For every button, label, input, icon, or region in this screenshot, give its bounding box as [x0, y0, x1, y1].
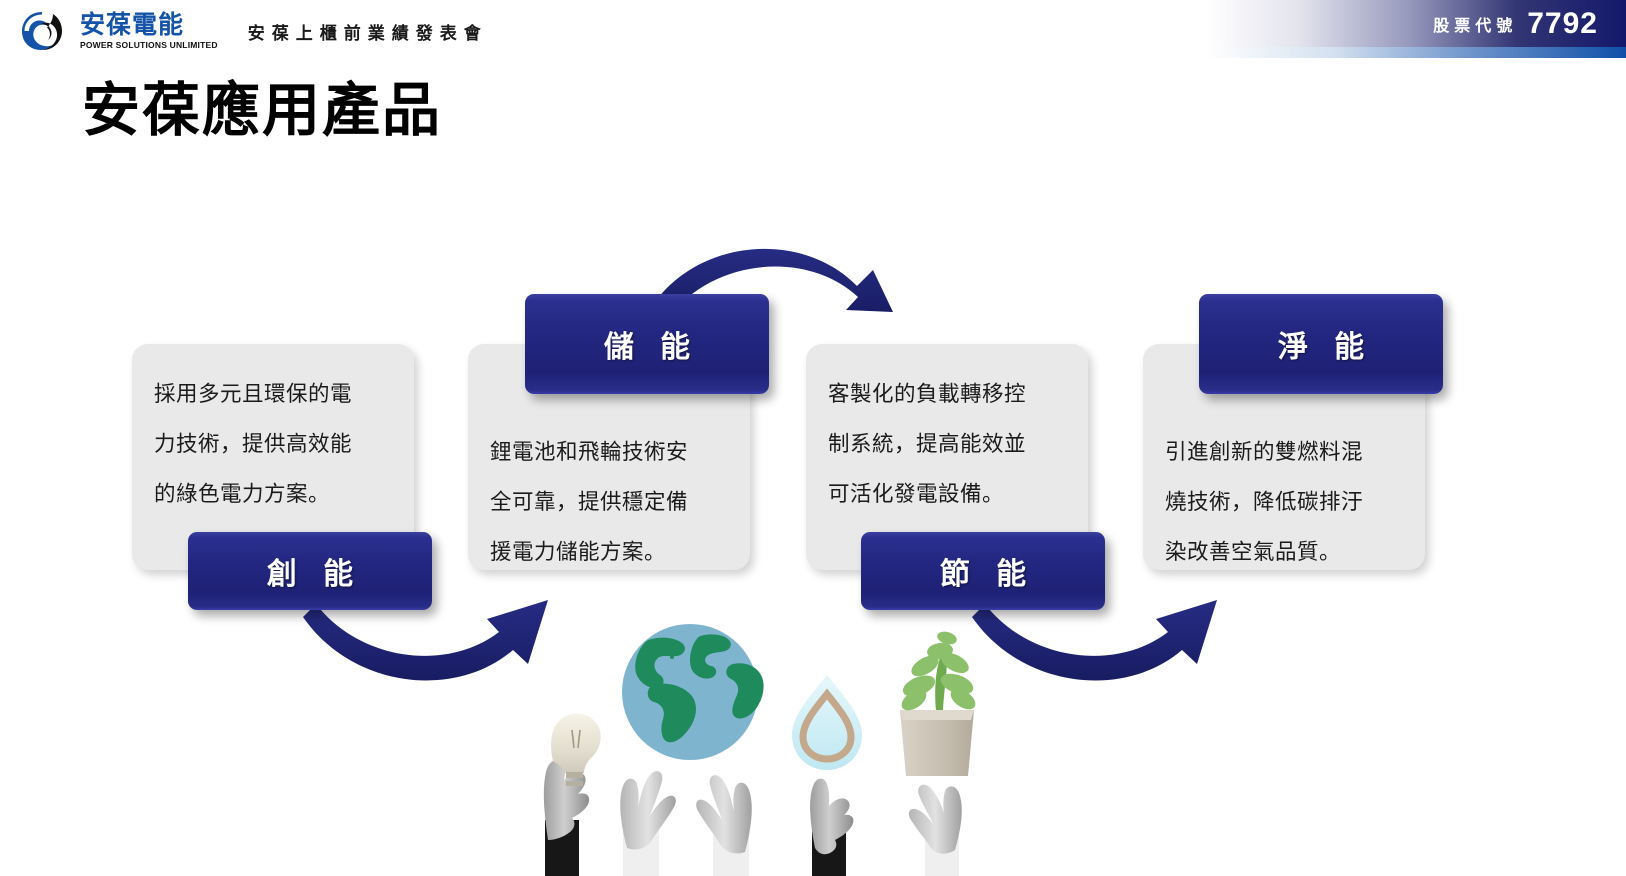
card-clean-text: 引進創新的雙燃料混 燒技術，降低碳排汙 染改善空氣品質。 [1143, 428, 1425, 578]
badge-create[interactable]: 創 能 [188, 532, 432, 610]
hand-holding-plant-pot [898, 629, 979, 876]
badge-create-label: 創 能 [258, 549, 362, 593]
card-line: 可活化發電設備。 [828, 470, 1066, 520]
hand-shape [696, 775, 752, 853]
plant-icon [898, 629, 979, 714]
globe-icon [622, 624, 764, 760]
card-store-text: 鋰電池和飛輪技術安 全可靠，提供穩定備 援電力儲能方案。 [468, 428, 750, 578]
card-line: 全可靠，提供穩定備 [490, 478, 728, 528]
card-line: 燒技術，降低碳排汙 [1165, 478, 1403, 528]
card-line: 引進創新的雙燃料混 [1165, 428, 1403, 478]
card-create-text: 採用多元且環保的電 力技術，提供高效能 的綠色電力方案。 [132, 370, 414, 520]
card-line: 制系統，提高能效並 [828, 420, 1066, 470]
badge-clean-label: 淨 能 [1269, 322, 1373, 366]
card-line: 染改善空氣品質。 [1165, 528, 1403, 578]
hand-right-under-globe [696, 775, 752, 876]
card-line: 的綠色電力方案。 [154, 470, 392, 520]
badge-save-label: 節 能 [931, 549, 1035, 593]
card-line: 客製化的負載轉移控 [828, 370, 1066, 420]
badge-store-label: 儲 能 [595, 322, 699, 366]
card-line: 力技術，提供高效能 [154, 420, 392, 470]
pot-rim [900, 710, 974, 720]
hand-shape [620, 771, 676, 849]
hand-holding-waterdrop [792, 675, 862, 876]
hand-holding-lightbulb [544, 714, 601, 876]
badge-store[interactable]: 儲 能 [525, 294, 769, 394]
badge-clean[interactable]: 淨 能 [1199, 294, 1443, 394]
card-save-text: 客製化的負載轉移控 制系統，提高能效並 可活化發電設備。 [806, 370, 1088, 520]
lightbulb-icon [551, 714, 601, 773]
card-line: 援電力儲能方案。 [490, 528, 728, 578]
badge-save[interactable]: 節 能 [861, 532, 1105, 610]
card-line: 鋰電池和飛輪技術安 [490, 428, 728, 478]
hand-shape [810, 779, 853, 855]
hand-shape [909, 785, 962, 854]
hand-left-under-globe [620, 771, 676, 876]
card-line: 採用多元且環保的電 [154, 370, 392, 420]
